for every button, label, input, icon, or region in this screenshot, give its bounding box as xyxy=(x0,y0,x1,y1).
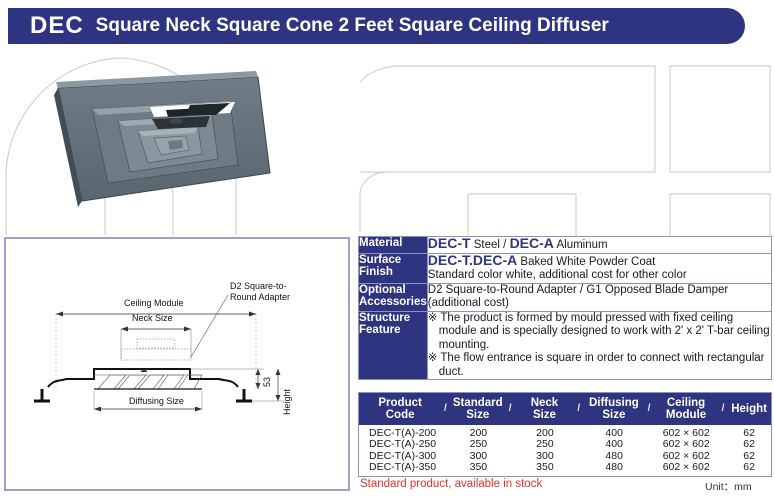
page-header: DEC Square Neck Square Cone 2 Feet Squar… xyxy=(8,8,745,44)
table-cell: DEC-T(A)-300 xyxy=(359,450,442,462)
spec-line: Standard color white, additional cost fo… xyxy=(428,269,771,283)
stock-note: Standard product, available in stock xyxy=(360,478,542,490)
table-cell: 350 xyxy=(515,461,575,473)
table-row: DEC-T(A)-200200200400602 × 60262 xyxy=(359,427,771,439)
table-cell: 62 xyxy=(727,427,771,439)
code-table-body: DEC-T(A)-200200200400602 × 60262DEC-T(A)… xyxy=(359,425,771,476)
spec-row: MaterialDEC-T Steel / DEC-A Aluminum xyxy=(359,237,772,254)
spec-row: Structure Feature※ The product is formed… xyxy=(359,311,772,380)
table-cell: 250 xyxy=(515,438,575,450)
header-separator: / xyxy=(441,403,449,416)
table-cell: 602 × 602 xyxy=(653,438,719,450)
col-header-ceiling-module: Ceiling Module xyxy=(653,397,719,422)
spec-row-label: Optional Accessories xyxy=(359,283,428,311)
col-header-neck-size: Neck Size xyxy=(514,397,574,422)
table-cell: 62 xyxy=(727,438,771,450)
spec-row-label: Material xyxy=(359,237,428,254)
datasheet-page: DEC Square Neck Square Cone 2 Feet Squar… xyxy=(0,0,775,500)
col-header-product-code: Product Code xyxy=(359,397,441,422)
header-separator: / xyxy=(719,403,727,416)
label-neck-size: Neck Size xyxy=(132,313,173,323)
product-code-badge: DEC xyxy=(30,12,84,40)
col-header-diffusing-size: Diffusing Size xyxy=(583,397,645,422)
table-cell: 62 xyxy=(727,461,771,473)
label-dim-53: 53 xyxy=(262,377,272,387)
technical-drawing-panel: Ceiling Module Neck Size Diffusing Size … xyxy=(4,237,350,491)
product-code-table: Product Code / Standard Size / Neck Size… xyxy=(358,392,772,477)
table-cell: 200 xyxy=(450,427,507,439)
feature-bullet: ※ The flow entrance is square in order t… xyxy=(428,352,771,379)
specification-table: MaterialDEC-T Steel / DEC-A AluminumSurf… xyxy=(358,236,772,380)
header-separator: / xyxy=(645,403,653,416)
table-cell: 300 xyxy=(515,450,575,462)
spec-row: Optional AccessoriesD2 Square-to-Round A… xyxy=(359,283,772,311)
spec-row-value: ※ The product is formed by mould pressed… xyxy=(427,311,771,380)
unit-note: Unit：mm xyxy=(705,479,752,494)
spec-line: (additional cost) xyxy=(428,297,771,311)
label-ceiling-module: Ceiling Module xyxy=(124,298,184,308)
code-table-header-row: Product Code / Standard Size / Neck Size… xyxy=(359,393,771,425)
table-cell: 480 xyxy=(583,461,645,473)
spec-row-value: D2 Square-to-Round Adapter / G1 Opposed … xyxy=(427,283,771,311)
table-cell: DEC-T(A)-200 xyxy=(359,427,442,439)
spec-line: DEC-T Steel / DEC-A Aluminum xyxy=(428,237,771,253)
table-cell: 602 × 602 xyxy=(653,450,719,462)
table-cell: 300 xyxy=(450,450,507,462)
label-diffusing-size: Diffusing Size xyxy=(129,396,184,406)
header-separator: / xyxy=(506,403,514,416)
spec-row-value: DEC-T.DEC-A Baked White Powder CoatStand… xyxy=(427,253,771,283)
label-d2-adapter: D2 Square-to- Round Adapter xyxy=(230,281,290,303)
table-cell: 400 xyxy=(583,427,645,439)
table-row: DEC-T(A)-350350350480602 × 60262 xyxy=(359,462,771,474)
table-cell: 480 xyxy=(583,450,645,462)
table-cell: 602 × 602 xyxy=(653,427,719,439)
spec-row-label: Structure Feature xyxy=(359,311,428,380)
feature-bullet: ※ The product is formed by mould pressed… xyxy=(428,312,771,353)
spec-line: DEC-T.DEC-A Baked White Powder Coat xyxy=(428,254,771,270)
label-height: Height xyxy=(282,389,292,415)
table-cell: DEC-T(A)-250 xyxy=(359,438,442,450)
table-cell: 62 xyxy=(727,450,771,462)
table-cell: DEC-T(A)-350 xyxy=(359,461,442,473)
table-cell: 250 xyxy=(450,438,507,450)
col-header-standard-size: Standard Size xyxy=(449,397,506,422)
spec-row: Surface FinishDEC-T.DEC-A Baked White Po… xyxy=(359,253,772,283)
col-header-height: Height xyxy=(727,403,771,416)
spec-line: D2 Square-to-Round Adapter / G1 Opposed … xyxy=(428,284,771,298)
table-cell: 350 xyxy=(450,461,507,473)
table-row: DEC-T(A)-250250250400602 × 60262 xyxy=(359,439,771,451)
table-row: DEC-T(A)-300300300480602 × 60262 xyxy=(359,450,771,462)
table-cell: 602 × 602 xyxy=(653,461,719,473)
table-cell: 400 xyxy=(583,438,645,450)
header-separator: / xyxy=(575,403,583,416)
table-cell: 200 xyxy=(515,427,575,439)
spec-row-label: Surface Finish xyxy=(359,253,428,283)
product-photo xyxy=(30,55,370,235)
page-title: Square Neck Square Cone 2 Feet Square Ce… xyxy=(96,15,609,37)
